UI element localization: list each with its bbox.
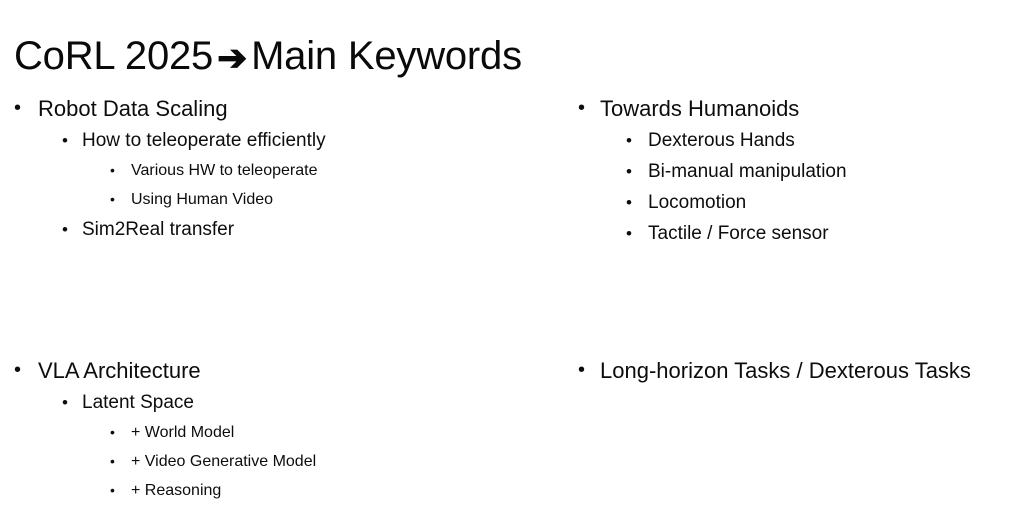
left-content-column: • Robot Data Scaling • How to teleoperat… bbox=[0, 0, 560, 528]
bullet-label: Bi-manual manipulation bbox=[648, 156, 847, 187]
bullet-item-level2: • Tactile / Force sensor bbox=[560, 218, 1024, 249]
bullet-dot-icon: • bbox=[110, 476, 115, 505]
bullet-label: Various HW to teleoperate bbox=[131, 156, 317, 185]
bullet-dot-icon: • bbox=[14, 354, 21, 387]
bullet-dot-icon: • bbox=[578, 92, 585, 125]
bullet-item-level1: • Towards Humanoids bbox=[560, 92, 1024, 125]
bullet-item-level3: • + Reasoning bbox=[0, 476, 560, 505]
bullet-label: How to teleoperate efficiently bbox=[82, 125, 326, 156]
bullet-dot-icon: • bbox=[626, 218, 632, 249]
bullet-dot-icon: • bbox=[110, 447, 115, 476]
bullet-group-robot-data-scaling: • Robot Data Scaling • How to teleoperat… bbox=[0, 92, 560, 245]
bullet-item-level1: • Long-horizon Tasks / Dexterous Tasks bbox=[560, 354, 1024, 387]
bullet-item-level2: • Dexterous Hands bbox=[560, 125, 1024, 156]
bullet-item-level1: • Robot Data Scaling bbox=[0, 92, 560, 125]
bullet-dot-icon: • bbox=[62, 387, 68, 418]
bullet-dot-icon: • bbox=[62, 125, 68, 156]
bullet-dot-icon: • bbox=[626, 156, 632, 187]
bullet-item-level2: • Sim2Real transfer bbox=[0, 214, 560, 245]
bullet-item-level3: • + Video Generative Model bbox=[0, 447, 560, 476]
bullet-label: Locomotion bbox=[648, 187, 746, 218]
bullet-item-level2: • How to teleoperate efficiently bbox=[0, 125, 560, 156]
bullet-dot-icon: • bbox=[62, 214, 68, 245]
bullet-dot-icon: • bbox=[110, 185, 115, 214]
bullet-label: Using Human Video bbox=[131, 185, 273, 214]
bullet-label: Towards Humanoids bbox=[600, 92, 799, 125]
bullet-dot-icon: • bbox=[626, 125, 632, 156]
bullet-item-level2: • Latent Space bbox=[0, 387, 560, 418]
bullet-item-level2: • Locomotion bbox=[560, 187, 1024, 218]
right-content-column: • Towards Humanoids • Dexterous Hands • … bbox=[560, 0, 1024, 528]
bullet-label: Tactile / Force sensor bbox=[648, 218, 829, 249]
bullet-label: + Reasoning bbox=[131, 476, 221, 505]
bullet-group-long-horizon-tasks: • Long-horizon Tasks / Dexterous Tasks bbox=[560, 354, 1024, 387]
bullet-item-level3: • + World Model bbox=[0, 418, 560, 447]
bullet-dot-icon: • bbox=[626, 187, 632, 218]
bullet-label: Dexterous Hands bbox=[648, 125, 795, 156]
bullet-label: Long-horizon Tasks / Dexterous Tasks bbox=[600, 354, 971, 387]
bullet-item-level2: • Bi-manual manipulation bbox=[560, 156, 1024, 187]
bullet-group-vla-architecture: • VLA Architecture • Latent Space • + Wo… bbox=[0, 354, 560, 505]
bullet-item-level3: • Various HW to teleoperate bbox=[0, 156, 560, 185]
bullet-group-towards-humanoids: • Towards Humanoids • Dexterous Hands • … bbox=[560, 92, 1024, 249]
bullet-label: Robot Data Scaling bbox=[38, 92, 228, 125]
bullet-label: Latent Space bbox=[82, 387, 194, 418]
bullet-dot-icon: • bbox=[14, 92, 21, 125]
slide-canvas: CoRL 2025➔Main Keywords • Robot Data Sca… bbox=[0, 0, 1024, 528]
bullet-dot-icon: • bbox=[578, 354, 585, 387]
bullet-dot-icon: • bbox=[110, 156, 115, 185]
bullet-label: VLA Architecture bbox=[38, 354, 201, 387]
bullet-label: + World Model bbox=[131, 418, 234, 447]
bullet-item-level1: • VLA Architecture bbox=[0, 354, 560, 387]
bullet-label: + Video Generative Model bbox=[131, 447, 316, 476]
bullet-item-level3: • Using Human Video bbox=[0, 185, 560, 214]
bullet-label: Sim2Real transfer bbox=[82, 214, 234, 245]
bullet-dot-icon: • bbox=[110, 418, 115, 447]
